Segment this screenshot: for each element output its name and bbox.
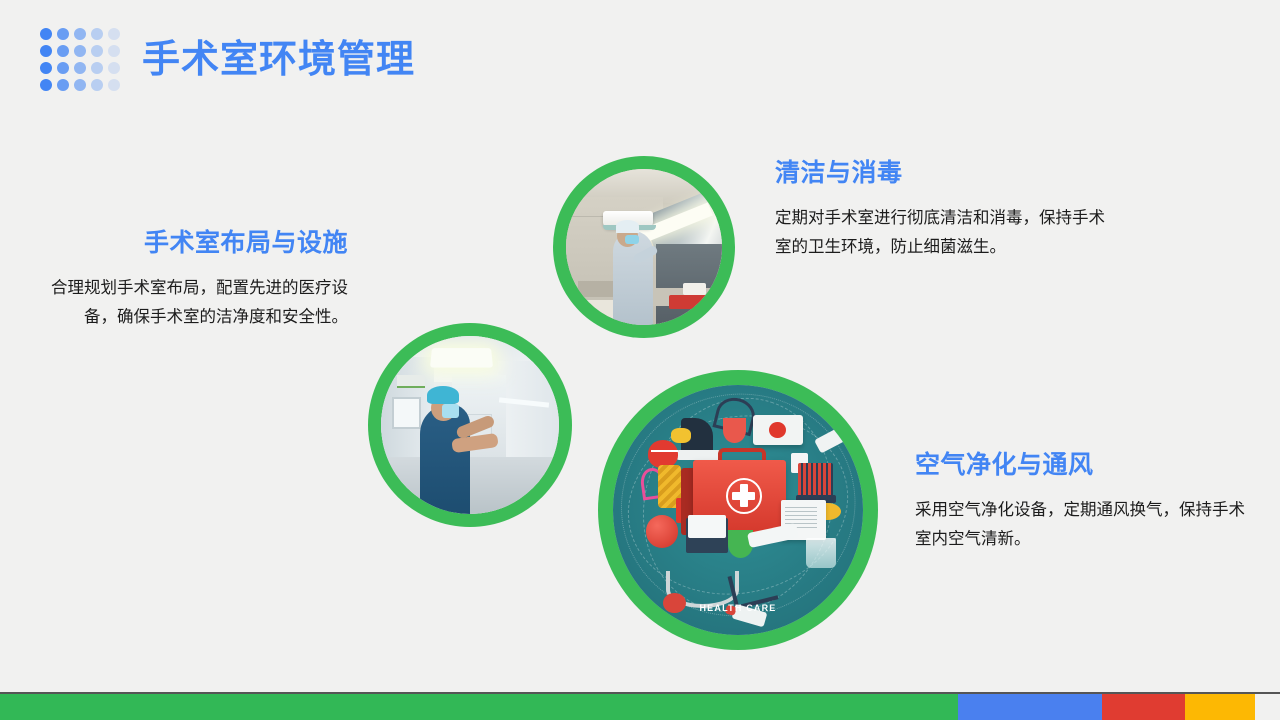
bar-segment-red <box>1102 694 1185 720</box>
section-layout: 手术室布局与设施 合理规划手术室布局，配置先进的医疗设备，确保手术室的洁净度和安… <box>48 228 348 332</box>
section-layout-body: 合理规划手术室布局，配置先进的医疗设备，确保手术室的洁净度和安全性。 <box>48 274 348 332</box>
photo-cleaning <box>566 169 722 325</box>
image-circle-surgeon <box>368 323 572 527</box>
section-cleaning: 清洁与消毒 定期对手术室进行彻底清洁和消毒，保持手术室的卫生环境，防止细菌滋生。 <box>775 158 1105 262</box>
slide-header: 手术室环境管理 <box>40 28 415 91</box>
slide: 手术室环境管理 手术室布局与设施 合理规划手术室布局，配置先进的医疗设备，确保手… <box>0 0 1280 720</box>
bar-segment-green <box>0 694 958 720</box>
bottom-color-bar <box>0 692 1280 720</box>
section-ventilation-title: 空气净化与通风 <box>915 450 1255 480</box>
photo-surgeon <box>381 336 559 514</box>
medical-cross-icon <box>726 478 763 515</box>
bar-segment-yellow <box>1185 694 1255 720</box>
image-circle-healthcare: HEALTH CARE <box>598 370 878 650</box>
pills-icon <box>671 428 691 443</box>
section-ventilation: 空气净化与通风 采用空气净化设备，定期通风换气，保持手术室内空气清新。 <box>915 450 1255 554</box>
dot-grid-icon <box>40 28 120 91</box>
illustration-healthcare: HEALTH CARE <box>613 385 863 635</box>
measuring-cup-icon <box>806 538 836 568</box>
image-circle-cleaning <box>553 156 735 338</box>
bar-segment-empty <box>1255 694 1280 720</box>
section-cleaning-body: 定期对手术室进行彻底清洁和消毒，保持手术室的卫生环境，防止细菌滋生。 <box>775 204 1105 262</box>
section-ventilation-body: 采用空气净化设备，定期通风换气，保持手术室内空气清新。 <box>915 496 1255 554</box>
page-title: 手术室环境管理 <box>142 41 415 79</box>
section-layout-title: 手术室布局与设施 <box>48 228 348 258</box>
rubber-bulb-icon <box>646 515 679 548</box>
photo-cleaning-art <box>566 169 722 325</box>
flask-icon <box>723 418 746 443</box>
ambulance-icon <box>753 415 803 445</box>
healthcare-caption: HEALTH CARE <box>613 603 863 613</box>
healthcare-illustration-art: HEALTH CARE <box>613 385 863 635</box>
section-cleaning-title: 清洁与消毒 <box>775 158 1105 188</box>
photo-surgeon-art <box>381 336 559 514</box>
bar-segment-blue <box>958 694 1102 720</box>
